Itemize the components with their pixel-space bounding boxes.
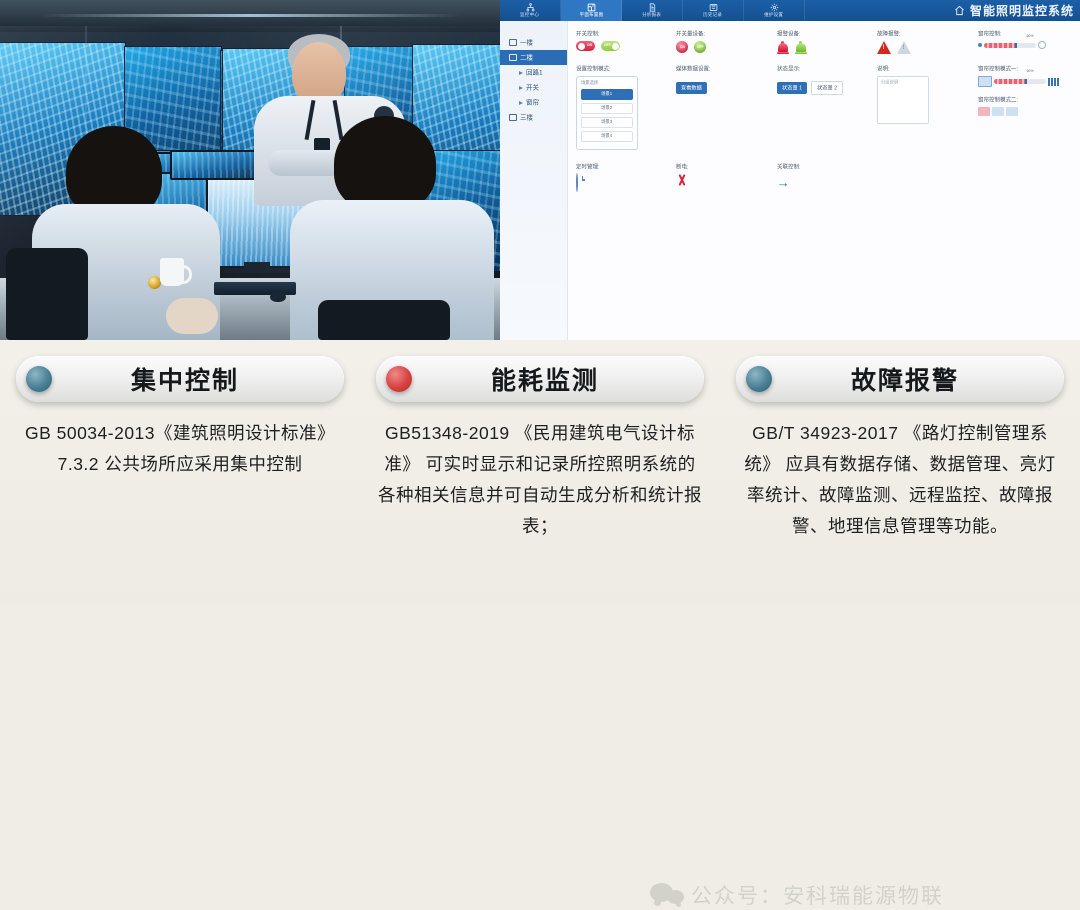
- curtain-control-group: 窗帘控制: 60%: [978, 31, 1072, 54]
- report-icon: [648, 3, 657, 12]
- feature-title-card: 集中控制: [16, 356, 344, 402]
- gear-icon: [770, 3, 779, 12]
- switch-toggle-on[interactable]: ON: [576, 41, 595, 51]
- lighting-control-app: 监控中心 平面布置图 分析报表: [500, 0, 1080, 340]
- note-textarea[interactable]: 分组说明: [877, 76, 929, 124]
- column-energy-monitoring: 能耗监测 GB51348-2019 《民用建筑电气设计标准》 可实时显示和记录所…: [360, 340, 720, 543]
- watermark-text: 公众号：安科瑞能源物联: [691, 880, 944, 910]
- scene-selector[interactable]: 场景选择 场景1 场景2 场景3 场景4: [576, 76, 638, 150]
- slider-start-dot: [978, 43, 982, 47]
- power-cut-group: 断电:: [676, 164, 770, 192]
- view-data-button[interactable]: 查看数据: [676, 82, 707, 94]
- feature-columns-section: 集中控制 GB 50034-2013《建筑照明设计标准》 7.3.2 公共场所应…: [0, 340, 1080, 606]
- dim-mode1-slider[interactable]: 60%: [978, 76, 1072, 87]
- node-icon: [509, 114, 517, 121]
- control-grid-row1: 开关控制: ON OFF 开关量设备:: [576, 31, 1072, 54]
- tree-item-label: 开关: [526, 83, 539, 92]
- slider-handle[interactable]: [1015, 43, 1017, 48]
- media-settings-group: 媒体数据设置: 查看数据: [676, 66, 770, 94]
- bullet-dot: [746, 366, 772, 392]
- tab-label: 平面布置图: [579, 12, 603, 18]
- feature-body-text: GB/T 34923-2017 《路灯控制管理系统》 应具有数据存储、数据管理、…: [736, 418, 1064, 543]
- dim-mode2-swatches[interactable]: [978, 107, 1018, 116]
- feature-title: 故障报警: [772, 361, 1064, 397]
- curtain-slider[interactable]: 60%: [978, 41, 1072, 49]
- note-group: 说明: 分组说明: [877, 66, 971, 124]
- coffee-mug: [160, 258, 184, 286]
- app-title-text: 智能照明监控系统: [970, 2, 1074, 19]
- scene-item-4[interactable]: 场景4: [581, 131, 633, 142]
- slider-fill: [994, 79, 1026, 84]
- fault-alarm-group: 故障报警:: [877, 31, 971, 54]
- feature-title: 集中控制: [52, 361, 344, 397]
- fault-warning-inactive-icon[interactable]: [897, 41, 911, 54]
- switch-control-group: 开关控制: ON OFF: [576, 31, 670, 54]
- tree-item-floor3[interactable]: 三楼: [500, 110, 567, 125]
- slider-track[interactable]: [994, 79, 1046, 84]
- leaf-icon: [519, 101, 523, 105]
- control-room-photo: [0, 0, 500, 340]
- link-control-group: 关联控制: →: [777, 164, 871, 192]
- tree-item-label: 三楼: [520, 113, 533, 122]
- leaf-icon: [519, 71, 523, 75]
- tree-item-floor1[interactable]: 一楼: [500, 35, 567, 50]
- dim-mode2-buttons[interactable]: [978, 107, 1072, 116]
- node-icon: [509, 39, 517, 46]
- tab-label: 监控中心: [521, 12, 540, 18]
- slider-fill: [984, 43, 1016, 48]
- dim-mode-icon: [978, 76, 992, 87]
- feature-title: 能耗监测: [412, 361, 704, 397]
- tree-item-switch[interactable]: 开关: [500, 80, 567, 95]
- node-icon: [509, 54, 517, 61]
- scene-caption: 场景选择: [581, 81, 643, 87]
- alarm-bell-normal-icon[interactable]: [795, 41, 807, 54]
- control-grid-row2: 设置控制模式: 场景选择 场景1 场景2 场景3 场景4 媒体数据设置: 查看数…: [576, 66, 1072, 150]
- sitemap-icon: [526, 3, 535, 12]
- timer-group: 定时管理:: [576, 164, 670, 192]
- mouse: [270, 292, 286, 302]
- view-data-label: 查看数据: [681, 84, 702, 92]
- status-label-1: 状态量 1: [782, 84, 802, 92]
- scene-label: 场景3: [601, 120, 612, 126]
- dimmer-knob-off[interactable]: OFF: [694, 41, 706, 53]
- status-label-2: 状态量 2: [817, 84, 837, 92]
- tree-item-circuit1[interactable]: 回路1: [500, 65, 567, 80]
- columns-row: 集中控制 GB 50034-2013《建筑照明设计标准》 7.3.2 公共场所应…: [0, 340, 1080, 543]
- monitor-stand: [224, 268, 292, 273]
- fault-warning-icon[interactable]: [877, 41, 891, 54]
- tab-maintenance-settings[interactable]: 维护设置: [744, 0, 805, 21]
- chair: [6, 248, 88, 340]
- chair: [318, 300, 450, 340]
- dimmer-device-group: 开关量设备: ON OFF: [676, 31, 770, 54]
- tab-label: 历史记录: [704, 12, 723, 18]
- home-icon[interactable]: [954, 5, 965, 16]
- note-placeholder: 分组说明: [881, 80, 934, 86]
- level-bars-icon: [1048, 78, 1059, 86]
- floor-tree-sidebar[interactable]: 一楼 二楼 回路1 开关 窗帘: [500, 21, 568, 340]
- watermark: 公众号：安科瑞能源物联: [650, 880, 944, 910]
- app-title-bar: 智能照明监控系统: [954, 0, 1074, 21]
- scene-item-2[interactable]: 场景2: [581, 103, 633, 114]
- feature-body-text: GB51348-2019 《民用建筑电气设计标准》 可实时显示和记录所控照明系统…: [376, 418, 704, 543]
- column-centralized-control: 集中控制 GB 50034-2013《建筑照明设计标准》 7.3.2 公共场所应…: [0, 340, 360, 543]
- dim-mode2-label: 窗帘控制模式二:: [978, 96, 1080, 104]
- dimmer-on-text: ON: [676, 41, 688, 53]
- dim-mode-group: 窗帘控制模式一: 60% 窗帘控制模式二:: [978, 66, 1072, 116]
- tree-item-label: 窗帘: [526, 98, 539, 107]
- control-grid-row3: 定时管理: 断电: 关联控制: →: [576, 164, 1072, 192]
- switch-on-text: ON: [587, 43, 592, 47]
- switch-off-text: OFF: [604, 43, 611, 47]
- tab-label: 分析报表: [643, 12, 662, 18]
- arrow-right-icon[interactable]: →: [777, 175, 790, 190]
- ceiling: [0, 0, 500, 32]
- scene-label: 场景2: [601, 106, 612, 112]
- tab-history-record[interactable]: 历史记录: [683, 0, 744, 21]
- status-button-1[interactable]: 状态量 1: [777, 82, 807, 94]
- app-body: 一楼 二楼 回路1 开关 窗帘: [500, 21, 1080, 340]
- curtain-value: 60%: [1027, 34, 1034, 38]
- history-icon: [709, 3, 718, 12]
- tree-item-label: 回路1: [526, 68, 543, 77]
- control-workspace: 开关控制: ON OFF 开关量设备:: [568, 21, 1080, 340]
- slider-gear-icon[interactable]: [1038, 41, 1046, 49]
- alarm-bell-active-icon[interactable]: [777, 41, 789, 54]
- feature-title-card: 能耗监测: [376, 356, 704, 402]
- status-display-group: 状态显示: 状态量 1 状态量 2: [777, 66, 871, 95]
- alarm-device-group: 报警设备:: [777, 31, 871, 54]
- slider-track[interactable]: [984, 43, 1036, 48]
- scene-label: 场景4: [601, 134, 612, 140]
- bullet-dot: [26, 366, 52, 392]
- app-topbar: 监控中心 平面布置图 分析报表: [500, 0, 1080, 21]
- next-label: 关联控制:: [777, 163, 895, 171]
- tab-floor-plan[interactable]: 平面布置图: [561, 0, 622, 21]
- column-fault-alarm: 故障报警 GB/T 34923-2017 《路灯控制管理系统》 应具有数据存储、…: [720, 340, 1080, 543]
- status-button-2[interactable]: 状态量 2: [811, 81, 843, 95]
- switch-toggle-off[interactable]: OFF: [601, 41, 620, 51]
- tree-item-curtain[interactable]: 窗帘: [500, 95, 567, 110]
- tree-item-floor2[interactable]: 二楼: [500, 50, 567, 65]
- scene-item-1[interactable]: 场景1: [581, 89, 633, 100]
- tab-label: 维护设置: [765, 12, 784, 18]
- app-tab-bar[interactable]: 监控中心 平面布置图 分析报表: [500, 0, 805, 21]
- hair: [334, 116, 436, 212]
- slider-handle[interactable]: [1025, 79, 1027, 84]
- dimmer-knob-on[interactable]: ON: [676, 41, 688, 53]
- tab-monitoring-center[interactable]: 监控中心: [500, 0, 561, 21]
- floorplan-icon: [587, 3, 596, 12]
- scene-label: 场景1: [601, 92, 612, 98]
- bullet-dot: [386, 366, 412, 392]
- wechat-logo-icon: [650, 883, 684, 907]
- feature-body-text: GB 50034-2013《建筑照明设计标准》 7.3.2 公共场所应采用集中控…: [16, 418, 344, 480]
- scene-item-3[interactable]: 场景3: [581, 117, 633, 128]
- leaf-icon: [519, 86, 523, 90]
- feature-title-card: 故障报警: [736, 356, 1064, 402]
- dimmer-off-text: OFF: [694, 41, 706, 53]
- dim-mode1-value: 60%: [1027, 69, 1034, 73]
- hand: [166, 298, 218, 334]
- spacer-cell: [978, 164, 1072, 192]
- scene-mode-group: 设置控制模式: 场景选择 场景1 场景2 场景3 场景4: [576, 66, 670, 150]
- tree-item-label: 一楼: [520, 38, 533, 47]
- clock-icon[interactable]: [576, 173, 578, 192]
- top-media-strip: 监控中心 平面布置图 分析报表: [0, 0, 1080, 340]
- tree-item-label: 二楼: [520, 53, 533, 62]
- tab-analysis-report[interactable]: 分析报表: [622, 0, 683, 21]
